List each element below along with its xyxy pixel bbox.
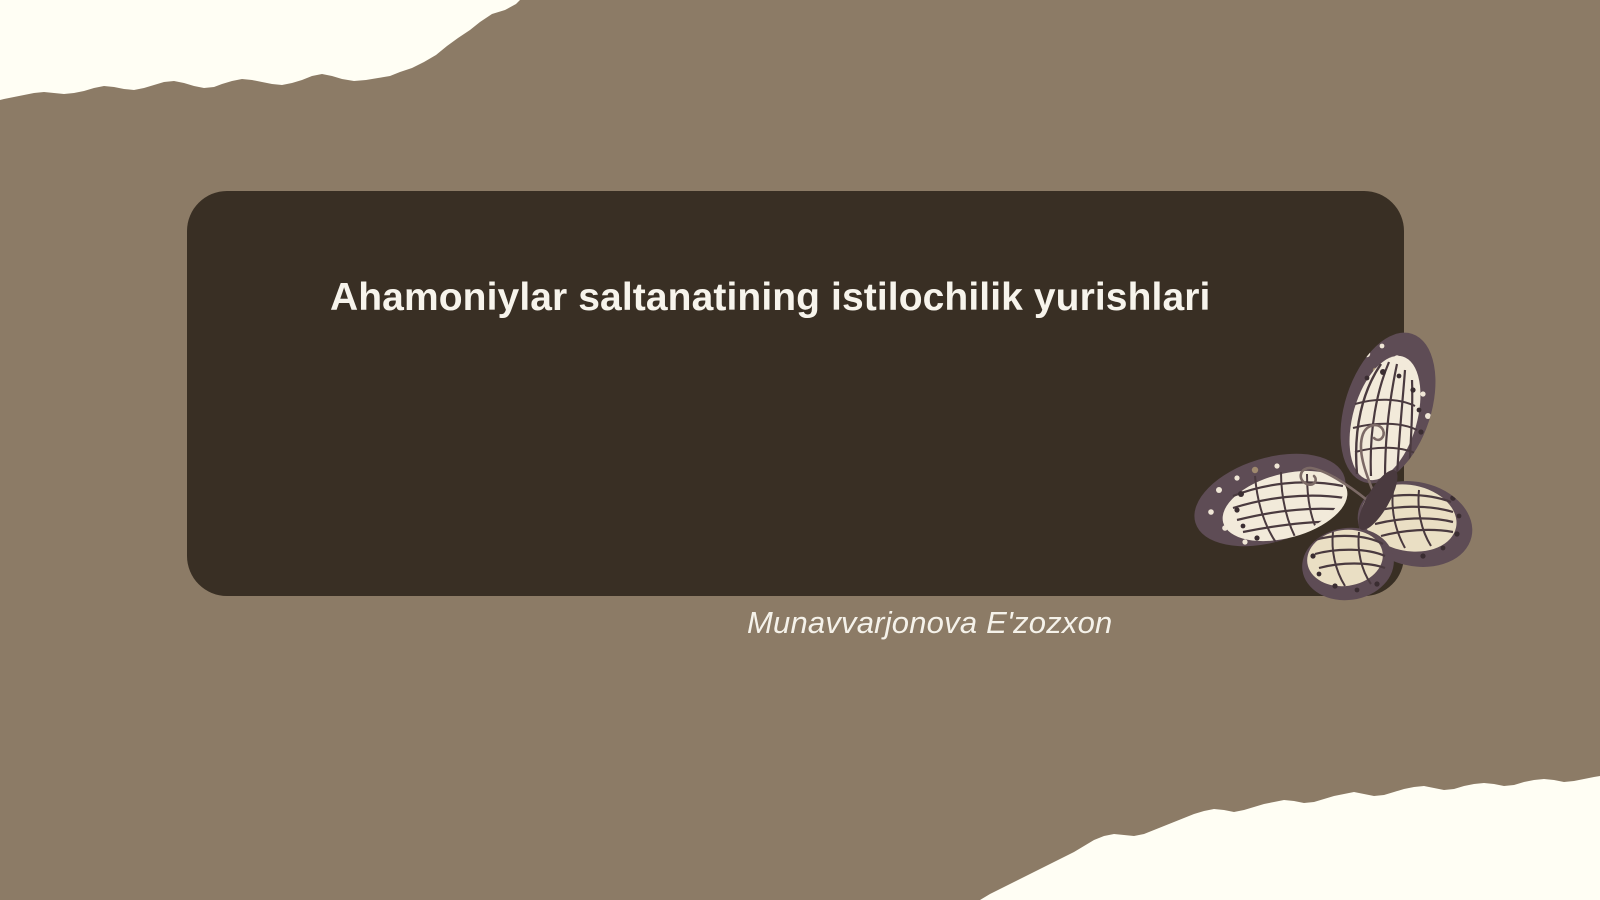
page-title: Ahamoniylar saltanatining istilochilik y… bbox=[330, 274, 1290, 323]
slide-canvas: Ahamoniylar saltanatining istilochilik y… bbox=[0, 0, 1600, 900]
butterfly-illustration bbox=[1185, 328, 1475, 620]
torn-paper-top-left-shape bbox=[0, 0, 520, 120]
torn-paper-bottom-right-shape bbox=[980, 750, 1600, 900]
author-name: Munavvarjonova E'zozxon bbox=[747, 605, 1113, 641]
butterfly-icon bbox=[1185, 328, 1475, 620]
torn-paper-top-left bbox=[0, 0, 520, 120]
torn-paper-bottom-right bbox=[980, 750, 1600, 900]
